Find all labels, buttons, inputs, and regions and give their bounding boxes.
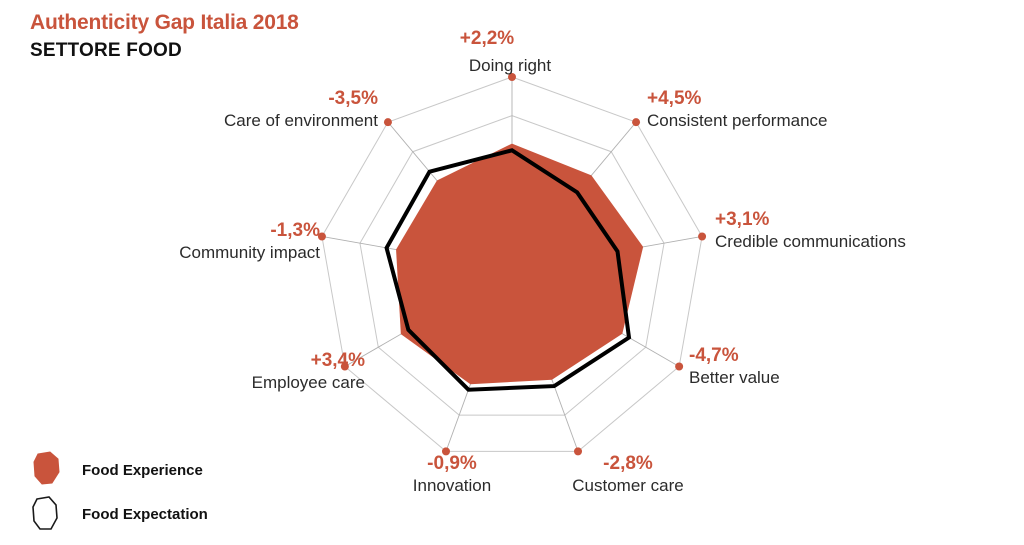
legend-item-food-experience: Food Experience	[26, 448, 208, 492]
axis-vertex-dot	[675, 363, 683, 371]
axis-label-credible-communications: +3,1% Credible communications	[715, 209, 906, 253]
outlined-polygon-swatch	[26, 494, 68, 534]
axis-label-employee-care: +3,4% Employee care	[145, 350, 365, 394]
radar-series	[387, 144, 644, 390]
chart-canvas: Authenticity Gap Italia 2018 SETTORE FOO…	[0, 0, 1024, 545]
axis-gap-innovation: -0,9%	[378, 453, 526, 475]
axis-vertex-dot	[632, 118, 640, 126]
axis-label-community-impact: -1,3% Community impact	[80, 220, 320, 264]
axis-gap-doing-right: +2,2%	[402, 28, 572, 50]
axis-gap-employee-care: +3,4%	[145, 350, 365, 372]
axis-name-doing-right: Doing right	[385, 55, 635, 77]
axis-gap-care-of-environment: -3,5%	[118, 88, 378, 110]
legend-label-food-experience: Food Experience	[82, 462, 203, 479]
axis-label-care-of-environment: -3,5% Care of environment	[118, 88, 378, 132]
filled-polygon-swatch	[26, 450, 68, 490]
axis-vertex-dot	[384, 118, 392, 126]
series-food-experience	[396, 144, 643, 385]
axis-gap-credible-communications: +3,1%	[715, 209, 906, 231]
axis-gap-better-value: -4,7%	[689, 345, 780, 367]
axis-gap-customer-care: -2,8%	[548, 453, 708, 475]
legend-label-food-expectation: Food Expectation	[82, 506, 208, 523]
chart-legend: Food Experience Food Expectation	[26, 448, 208, 536]
axis-label-consistent-performance: +4,5% Consistent performance	[647, 88, 827, 132]
axis-label-better-value: -4,7% Better value	[689, 345, 780, 389]
axis-label-doing-right: +2,2%	[402, 28, 572, 50]
axis-gap-community-impact: -1,3%	[80, 220, 320, 242]
axis-vertex-dot	[698, 232, 706, 240]
axis-label-innovation: -0,9% Innovation	[378, 453, 526, 497]
axis-label-customer-care: -2,8% Customer care	[548, 453, 708, 497]
legend-item-food-expectation: Food Expectation	[26, 492, 208, 536]
axis-gap-consistent-performance: +4,5%	[647, 88, 827, 110]
